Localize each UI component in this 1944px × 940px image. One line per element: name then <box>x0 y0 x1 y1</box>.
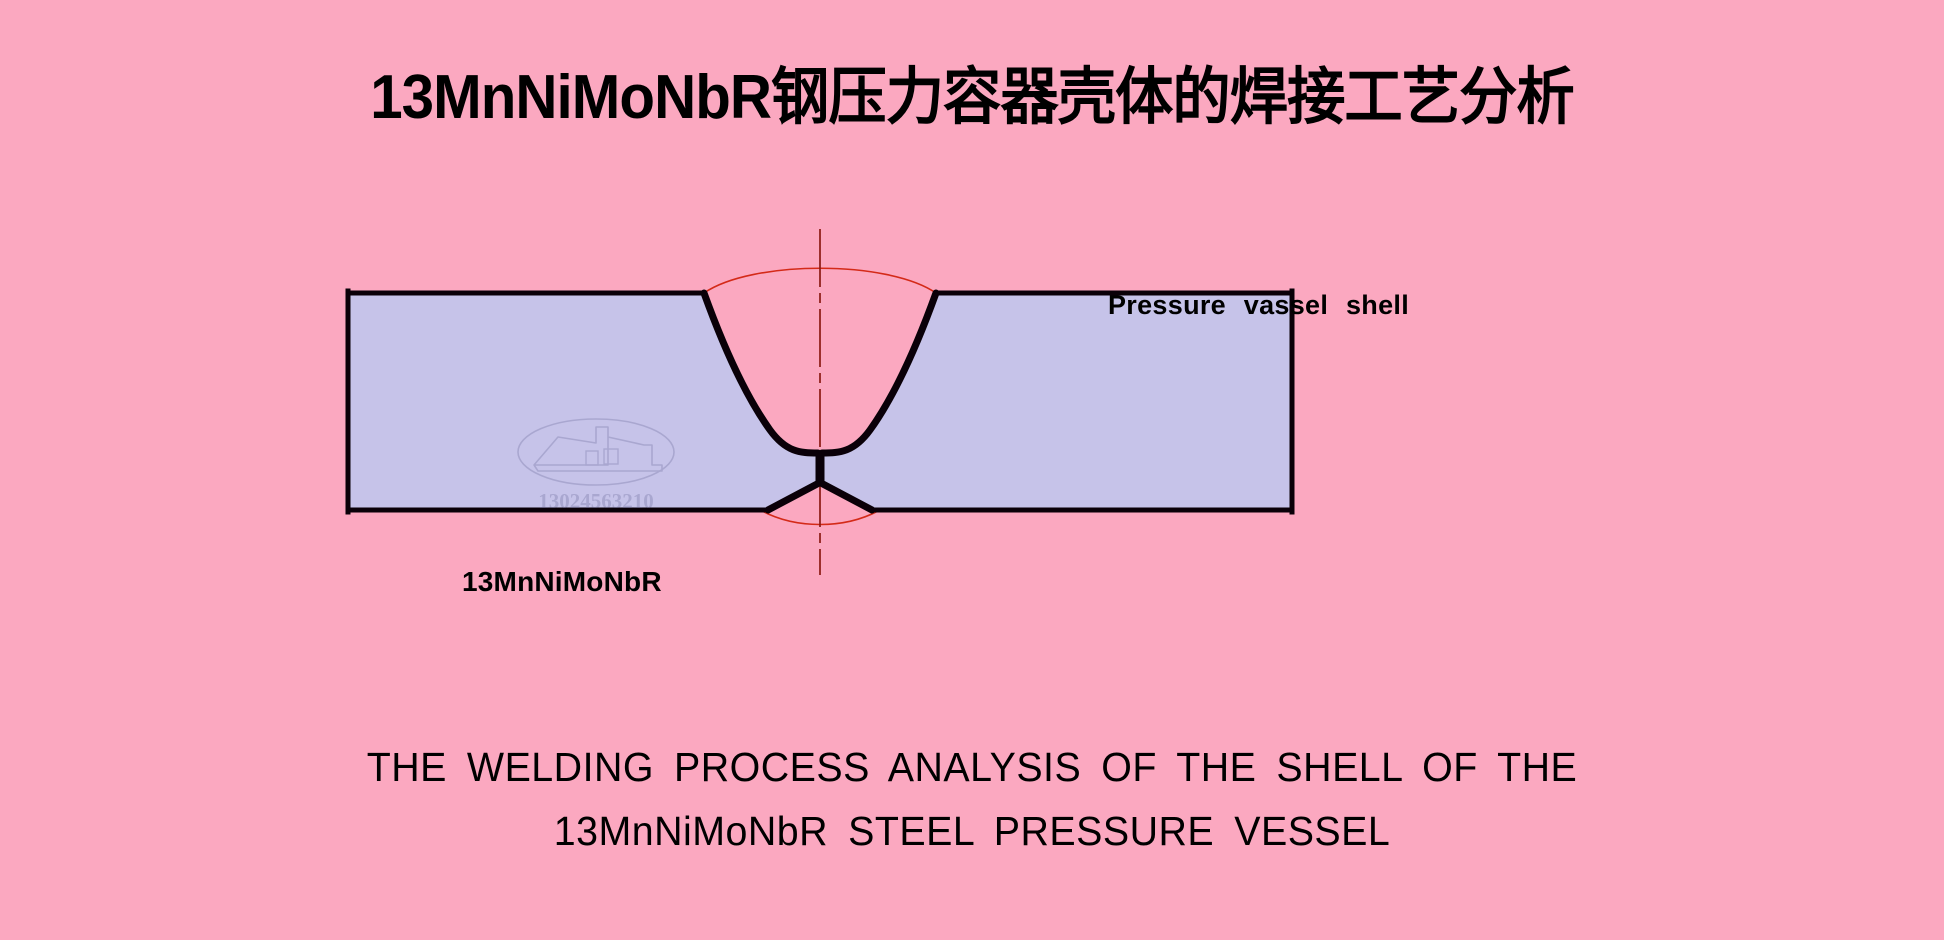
slide-root: 13MnNiMoNbR钢压力容器壳体的焊接工艺分析 <box>0 0 1944 940</box>
label-base-material: 13MnNiMoNbR <box>462 566 662 598</box>
figure-caption: THE WELDING PROCESS ANALYSIS OF THE SHEL… <box>39 735 1905 863</box>
base-metal-left <box>348 293 704 510</box>
page-title: 13MnNiMoNbR钢压力容器壳体的焊接工艺分析 <box>58 62 1885 134</box>
caption-line-1: THE WELDING PROCESS ANALYSIS OF THE SHEL… <box>39 735 1905 799</box>
weld-groove-diagram <box>300 215 1340 635</box>
base-metal-right <box>936 293 1292 510</box>
caption-line-2: 13MnNiMoNbR STEEL PRESSURE VESSEL <box>39 799 1905 863</box>
label-pressure-vessel-shell: Pressure vassel shell <box>1108 290 1409 321</box>
